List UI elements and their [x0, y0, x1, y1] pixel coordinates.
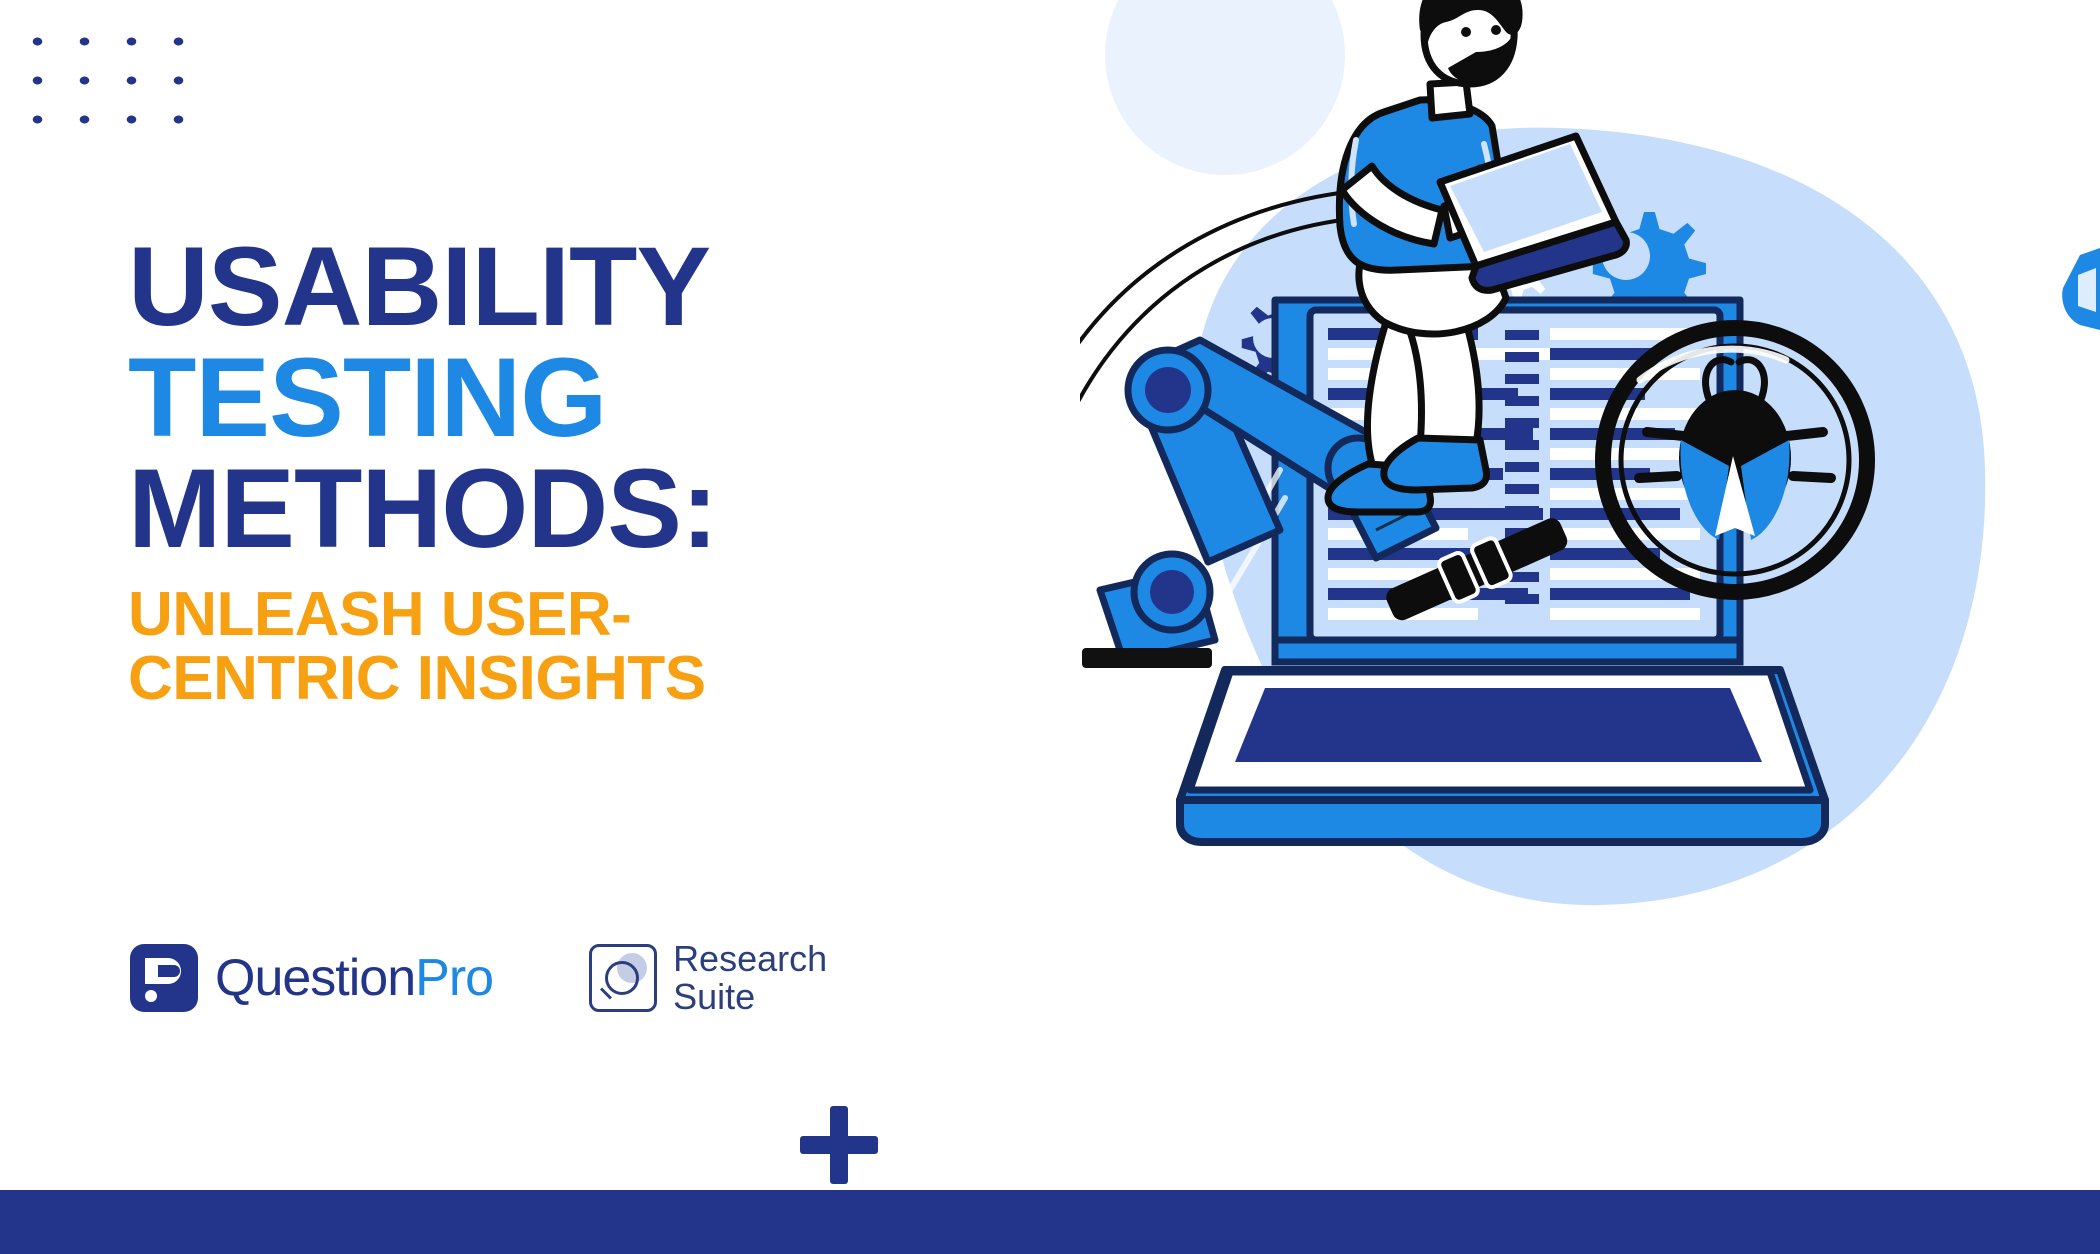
- headline-line-1: USABILITY: [128, 232, 998, 343]
- research-suite-line-2: Suite: [673, 978, 827, 1016]
- bottom-bar: [0, 1190, 2100, 1254]
- usability-testing-illustration: [1080, 0, 2100, 1110]
- logo-row: QuestionPro Research Suite: [130, 940, 827, 1016]
- research-suite-wordmark: Research Suite: [673, 940, 827, 1016]
- dot-grid-decoration: [8, 16, 208, 126]
- questionpro-word-part2: Pro: [415, 949, 493, 1007]
- headline-line-2: TESTING: [128, 343, 998, 454]
- plus-decoration-icon: [800, 1106, 878, 1184]
- research-suite-line-1: Research: [673, 940, 827, 978]
- questionpro-word-part1: Question: [215, 949, 415, 1007]
- questionpro-logo[interactable]: QuestionPro: [130, 944, 493, 1012]
- headline-line-3: METHODS:: [128, 454, 998, 565]
- subtitle-line-1: UNLEASH USER-: [128, 583, 998, 647]
- research-suite-logo[interactable]: Research Suite: [589, 940, 827, 1016]
- magnifier-icon: [589, 944, 657, 1012]
- headline-block: USABILITY TESTING METHODS: UNLEASH USER-…: [128, 232, 998, 712]
- questionpro-wordmark: QuestionPro: [215, 948, 493, 1008]
- poster-canvas: USABILITY TESTING METHODS: UNLEASH USER-…: [0, 0, 2100, 1254]
- subtitle-block: UNLEASH USER- CENTRIC INSIGHTS: [128, 583, 998, 712]
- questionpro-mark-icon: [130, 944, 198, 1012]
- subtitle-line-2: CENTRIC INSIGHTS: [128, 647, 998, 711]
